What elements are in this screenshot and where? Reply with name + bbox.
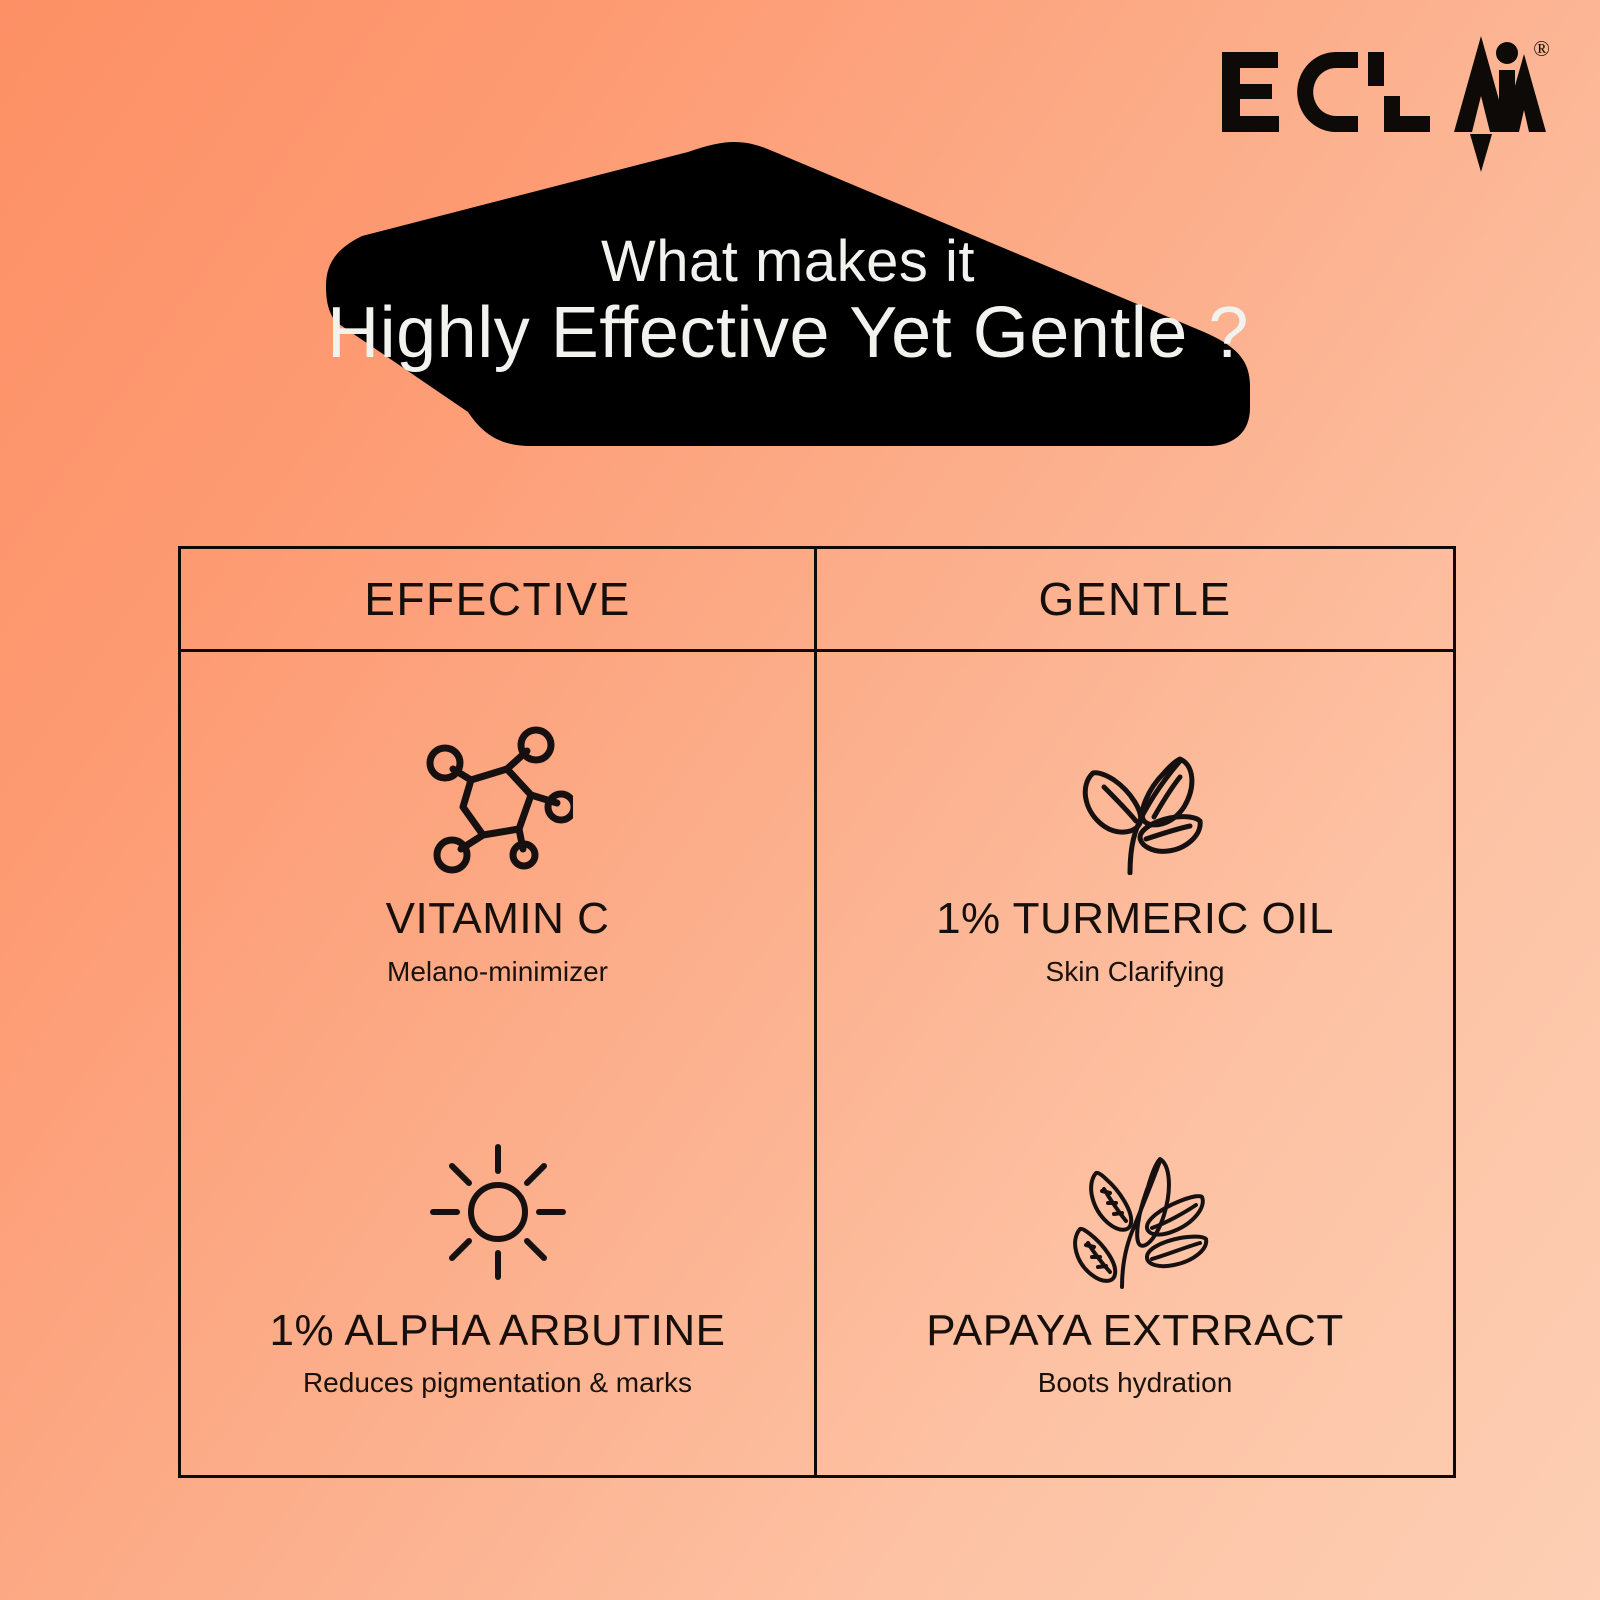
feature-cell-vitamin-c: VITAMIN C Melano-minimizer (181, 652, 814, 1064)
table-header-cell-gentle: GENTLE (817, 549, 1453, 649)
banner-shape-icon (318, 136, 1258, 456)
header-label-gentle: GENTLE (1038, 572, 1231, 626)
brand-logo: ® (1218, 34, 1548, 174)
feature-cell-papaya-extract: PAPAYA EXTRRACT Boots hydration (817, 1064, 1453, 1476)
feature-subtitle: Skin Clarifying (1046, 957, 1225, 988)
feature-cell-turmeric-oil: 1% TURMERIC OIL Skin Clarifying (817, 652, 1453, 1064)
feature-subtitle: Boots hydration (1038, 1368, 1233, 1399)
poster-canvas: ® What makes it Highly Effective Yet Gen… (0, 0, 1600, 1600)
feature-cell-alpha-arbutine: 1% ALPHA ARBUTINE Reduces pigmentation &… (181, 1064, 814, 1476)
feature-title: PAPAYA EXTRRACT (926, 1308, 1343, 1355)
header-label-effective: EFFECTIVE (364, 572, 631, 626)
feature-title: VITAMIN C (386, 896, 610, 943)
sun-icon (423, 1132, 573, 1292)
molecule-icon (423, 720, 573, 880)
registered-trademark-icon: ® (1533, 38, 1550, 60)
feature-subtitle: Melano-minimizer (387, 957, 608, 988)
table-column-effective: VITAMIN C Melano-minimizer (181, 652, 817, 1475)
feature-title: 1% ALPHA ARBUTINE (269, 1308, 725, 1355)
headline-banner: What makes it Highly Effective Yet Gentl… (318, 136, 1258, 456)
feature-title: 1% TURMERIC OIL (936, 896, 1334, 943)
table-header-cell-effective: EFFECTIVE (181, 549, 817, 649)
papaya-leaves-icon (1056, 1132, 1214, 1292)
table-body: VITAMIN C Melano-minimizer (181, 652, 1453, 1475)
feature-subtitle: Reduces pigmentation & marks (303, 1368, 692, 1399)
eclavia-wordmark-icon (1218, 34, 1548, 174)
comparison-table: EFFECTIVE GENTLE (178, 546, 1456, 1478)
leaf-sprig-icon (1060, 720, 1210, 880)
table-column-gentle: 1% TURMERIC OIL Skin Clarifying (817, 652, 1453, 1475)
table-header-row: EFFECTIVE GENTLE (181, 549, 1453, 652)
